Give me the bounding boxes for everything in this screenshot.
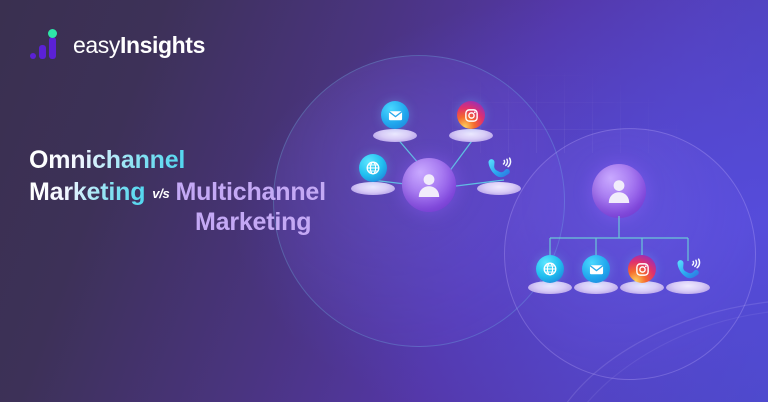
node-platform (351, 182, 395, 195)
globe-icon (536, 255, 564, 283)
phone-icon (482, 152, 516, 189)
mail-icon (381, 101, 409, 129)
omnichannel-center-node[interactable] (402, 158, 456, 212)
multichannel-center-node[interactable] (592, 164, 646, 218)
user-avatar (592, 164, 646, 218)
logo-bar-dot (30, 53, 36, 59)
logo-accent-dot (48, 29, 57, 38)
headline-line-1: Omnichannel (29, 144, 359, 176)
mail-icon (582, 255, 610, 283)
instagram-icon (457, 101, 485, 129)
brand-wordmark: easyInsights (73, 34, 205, 59)
brand-name-bold: Insights (120, 32, 205, 58)
multichannel-channel-phone[interactable] (661, 253, 715, 299)
brand-logo[interactable]: easyInsights (30, 25, 205, 59)
node-platform (373, 129, 417, 142)
omnichannel-title-line1: Omnichannel (29, 146, 185, 174)
logo-bar-2 (49, 37, 56, 59)
envelope-glyph (388, 108, 403, 123)
user-avatar (402, 158, 456, 212)
logo-bar-1 (39, 45, 46, 59)
instagram-glyph (635, 262, 650, 277)
omnichannel-channel-email[interactable] (368, 101, 422, 145)
instagram-glyph (464, 108, 479, 123)
decorative-arc (560, 300, 768, 402)
instagram-icon (628, 255, 656, 283)
phone-signal-glyph (482, 152, 516, 184)
globe-glyph (542, 261, 558, 277)
headline-line-2: Marketingv/sMultichannel (29, 176, 359, 208)
omnichannel-channel-instagram[interactable] (444, 101, 498, 145)
omnichannel-channel-phone[interactable] (472, 152, 526, 198)
versus-separator: v/s (145, 186, 175, 201)
page-title: Omnichannel Marketingv/sMultichannel Mar… (29, 144, 359, 238)
headline-line-3: Marketing (29, 206, 359, 238)
omnichannel-title-line2: Marketing (29, 178, 145, 206)
omnichannel-channel-web[interactable] (346, 154, 400, 198)
brand-name-light: easy (73, 32, 120, 58)
multichannel-title-line1: Multichannel (175, 178, 325, 206)
phone-signal-glyph (671, 253, 705, 285)
phone-icon (671, 253, 705, 290)
person-icon (414, 170, 444, 200)
bar-chart-logo-icon (30, 29, 64, 59)
person-icon (604, 176, 634, 206)
banner-canvas: easyInsights Omnichannel Marketingv/sMul… (0, 0, 768, 402)
node-platform (449, 129, 493, 142)
globe-icon (359, 154, 387, 182)
envelope-glyph (589, 262, 604, 277)
globe-glyph (365, 160, 381, 176)
multichannel-title-line2: Marketing (195, 206, 359, 238)
